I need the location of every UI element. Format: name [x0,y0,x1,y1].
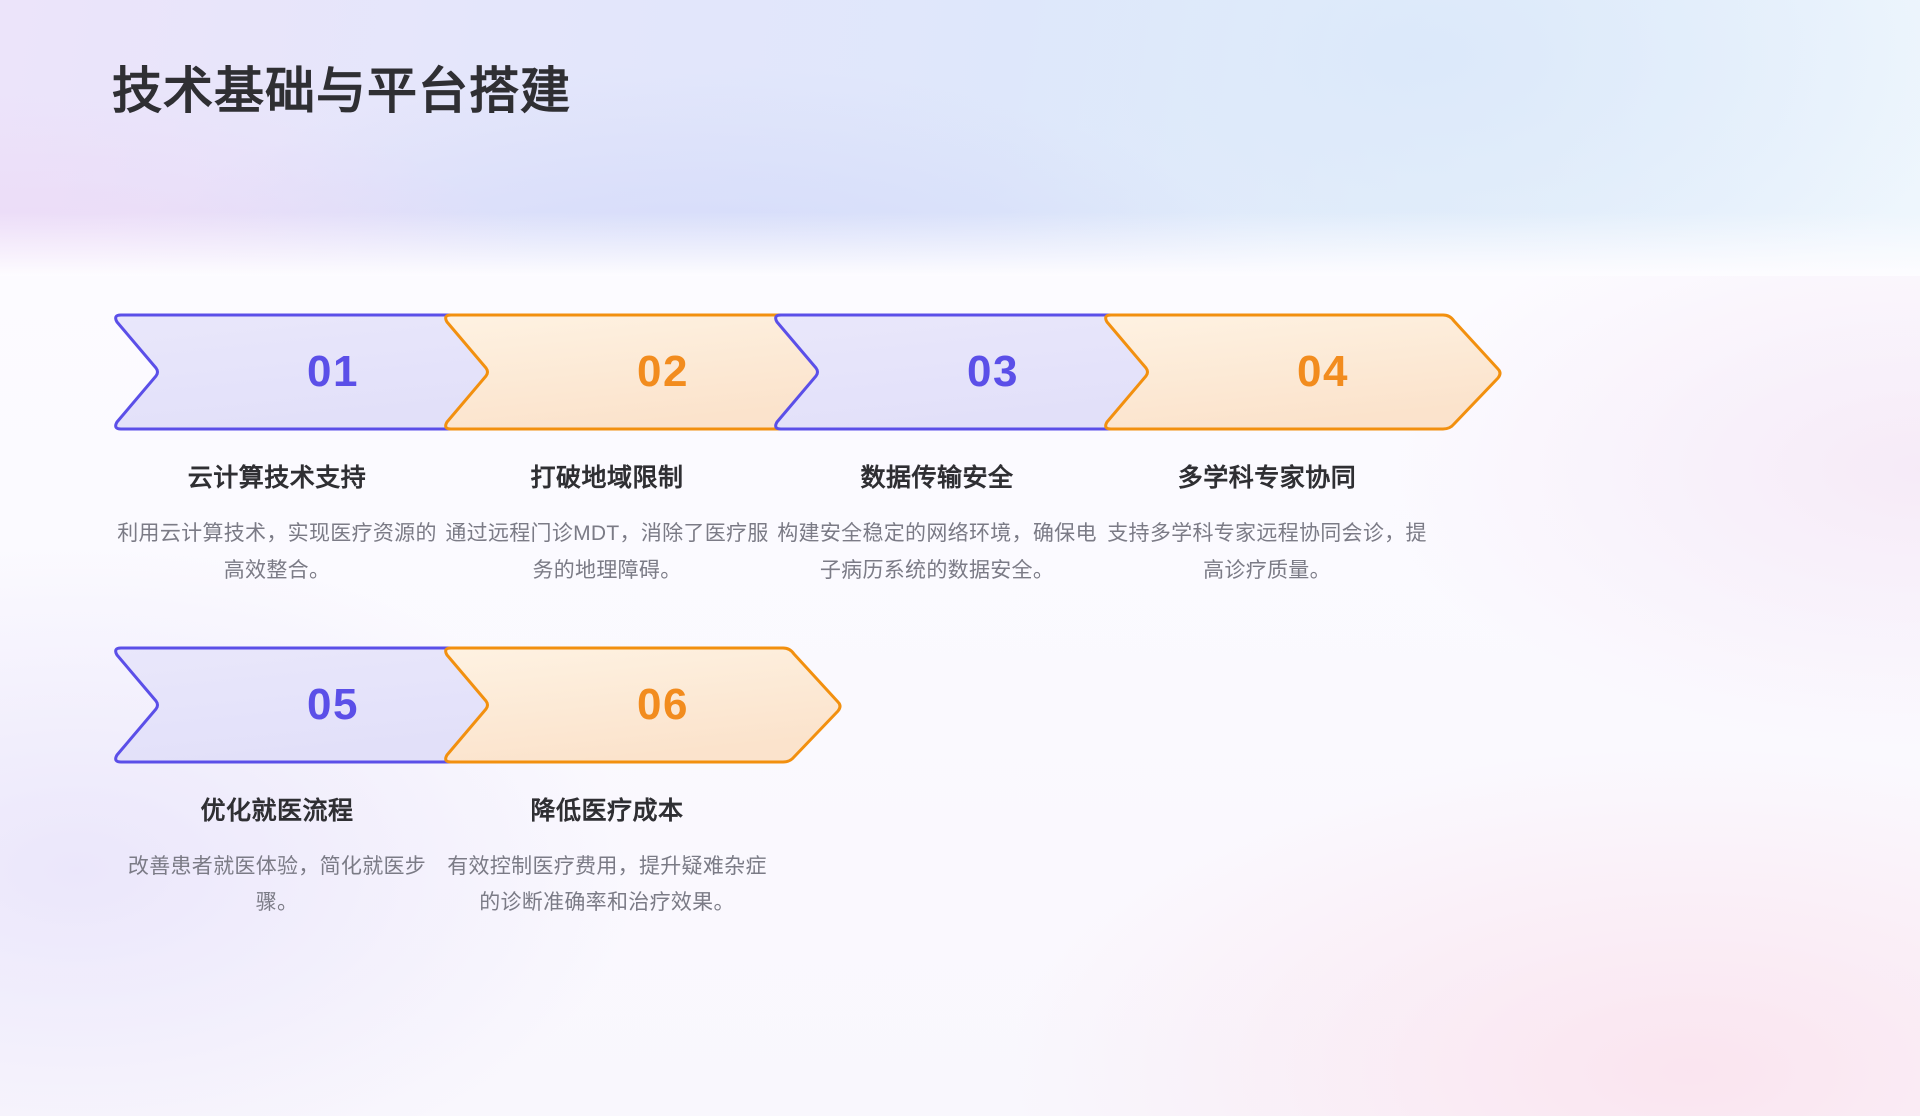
step-chevron: 06 [442,645,850,765]
step-title: 云计算技术支持 [112,458,442,494]
steps-grid: 01云计算技术支持利用云计算技术，实现医疗资源的高效整合。02打破地域限制通过远… [112,312,1812,922]
header-gradient-band [0,0,1920,276]
step-description: 利用云计算技术，实现医疗资源的高效整合。 [112,516,442,590]
slide-root: 技术基础与平台搭建 01云计算技术支持利用云计算技术，实现医疗资源的高效整合。0… [0,0,1920,1116]
step-title: 优化就医流程 [112,791,442,827]
step-description: 通过远程门诊MDT，消除了医疗服务的地理障碍。 [442,516,772,590]
step-description: 支持多学科专家远程协同会诊，提高诊疗质量。 [1102,516,1432,590]
page-title: 技术基础与平台搭建 [112,60,571,123]
step-chevron: 04 [1102,312,1510,432]
step-card: 04多学科专家协同支持多学科专家远程协同会诊，提高诊疗质量。 [1102,312,1510,590]
step-title: 降低医疗成本 [442,791,772,827]
step-title: 数据传输安全 [772,458,1102,494]
step-description: 构建安全稳定的网络环境，确保电子病历系统的数据安全。 [772,516,1102,590]
step-title: 打破地域限制 [442,458,772,494]
chevron-shape-icon [1102,312,1510,432]
step-title: 多学科专家协同 [1102,458,1432,494]
step-card: 06降低医疗成本有效控制医疗费用，提升疑难杂症的诊断准确率和治疗效果。 [442,645,850,923]
step-description: 改善患者就医体验，简化就医步骤。 [112,849,442,923]
step-description: 有效控制医疗费用，提升疑难杂症的诊断准确率和治疗效果。 [442,849,772,923]
chevron-shape-icon [442,645,850,765]
